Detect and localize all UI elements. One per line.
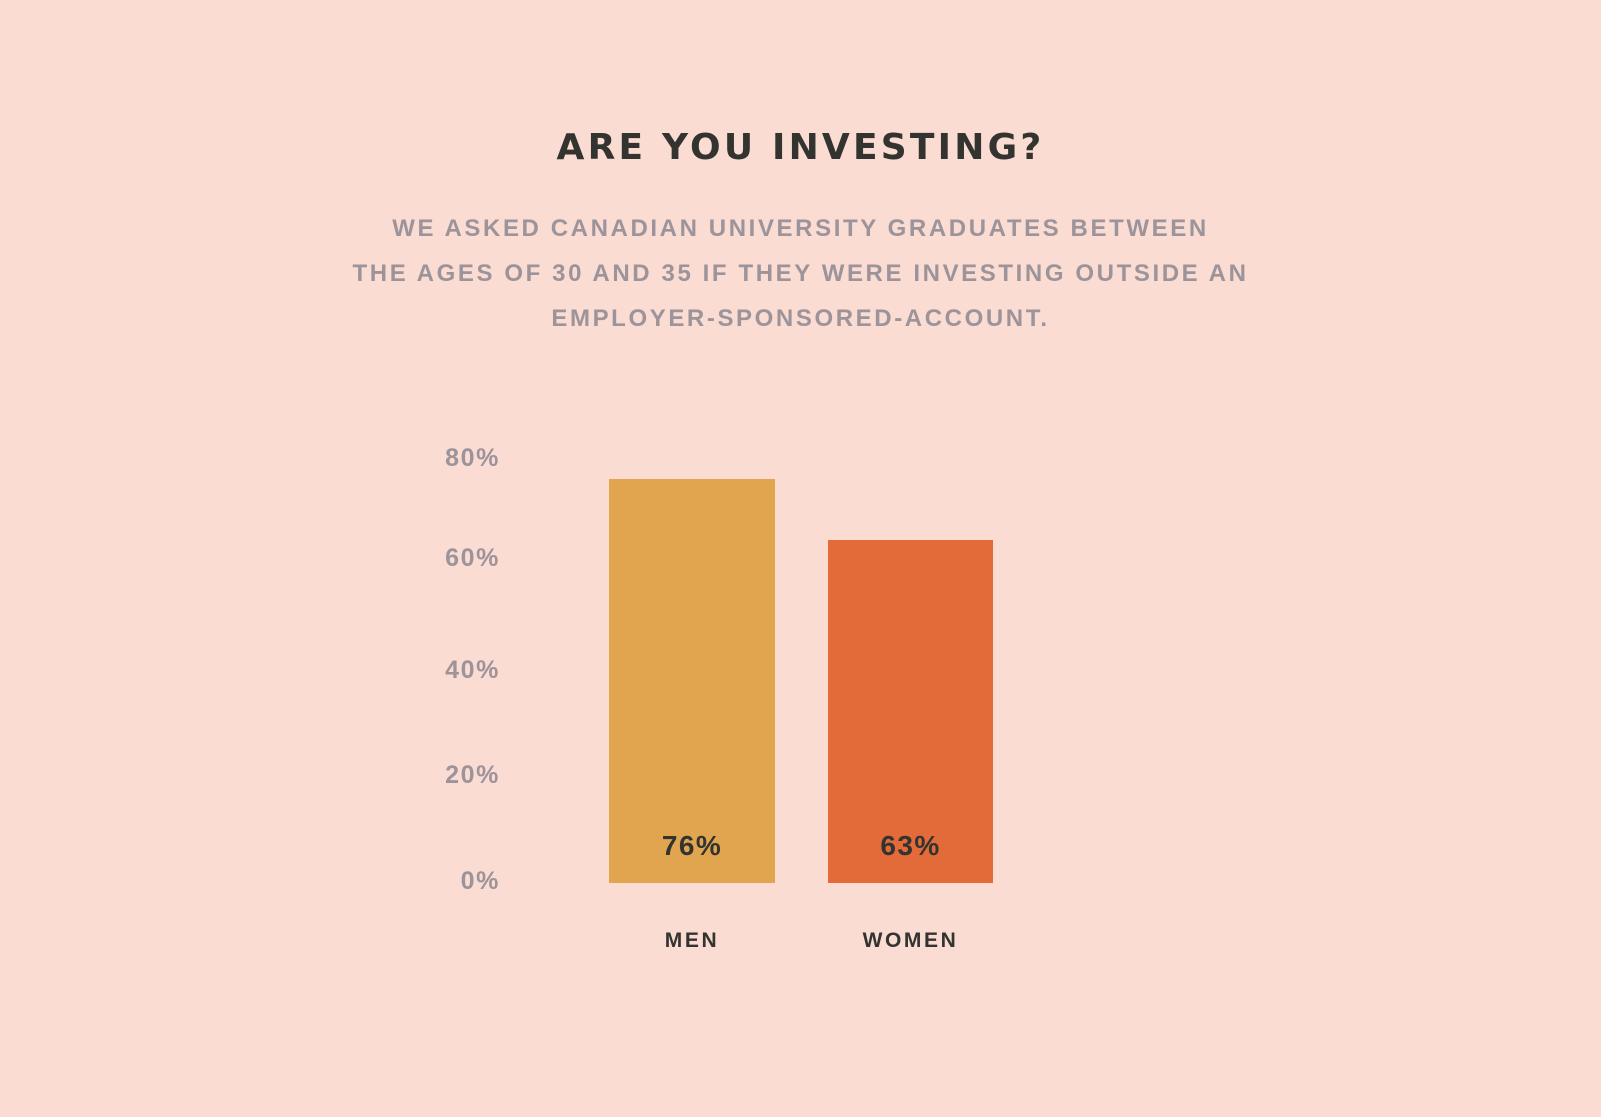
bar-value-men: 76% [609, 831, 775, 861]
page-title: ARE YOU INVESTING? [0, 124, 1601, 172]
y-axis-tick-80: 80% [300, 445, 500, 471]
subtitle-line-3: EMPLOYER-SPONSORED-ACCOUNT. [0, 296, 1601, 341]
header-block: ARE YOU INVESTING? WE ASKED CANADIAN UNI… [0, 124, 1601, 341]
y-axis-tick-40: 40% [300, 657, 500, 683]
x-axis-label-women: WOMEN [828, 929, 993, 953]
subtitle-block: WE ASKED CANADIAN UNIVERSITY GRADUATES B… [0, 206, 1601, 341]
poster-canvas: ARE YOU INVESTING? WE ASKED CANADIAN UNI… [0, 0, 1601, 1117]
x-axis-label-men: MEN [609, 929, 775, 953]
subtitle-line-2: THE AGES OF 30 AND 35 IF THEY WERE INVES… [0, 251, 1601, 296]
bar-value-women: 63% [828, 831, 993, 861]
y-axis-tick-60: 60% [300, 545, 500, 571]
subtitle-line-1: WE ASKED CANADIAN UNIVERSITY GRADUATES B… [0, 206, 1601, 251]
bar-men[interactable]: 76% [609, 479, 775, 883]
y-axis-tick-20: 20% [300, 762, 500, 788]
y-axis-tick-0: 0% [300, 868, 500, 894]
bar-women[interactable]: 63% [828, 540, 993, 883]
